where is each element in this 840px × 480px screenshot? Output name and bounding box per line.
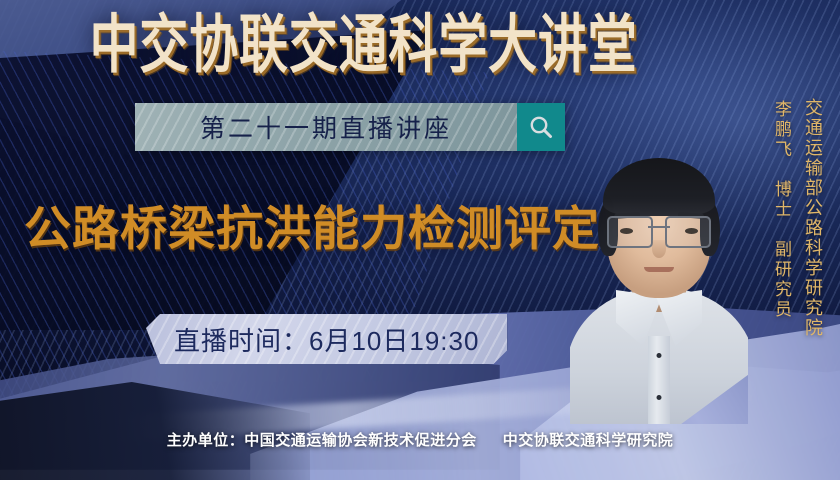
speaker-organization: 交通运输部公路科学研究院 xyxy=(800,98,826,338)
portrait-shirt-button xyxy=(657,395,662,400)
portrait-shirt-placket xyxy=(648,336,670,424)
glasses-lens-right xyxy=(665,216,711,248)
footer-prefix: 主办单位： xyxy=(167,432,245,449)
speaker-name-title: 李鹏飞 博士 副研究员 xyxy=(769,100,794,320)
broadcast-time-label: 直播时间：6月10日19:30 xyxy=(174,321,479,358)
glasses-bridge xyxy=(648,226,670,228)
footer-organizers: 主办单位：中国交通运输协会新技术促进分会中交协联交通科学研究院 xyxy=(0,429,840,450)
portrait-shirt-button xyxy=(657,353,662,358)
page-title: 中交协联交通科学大讲堂 xyxy=(25,14,815,77)
lecture-topic: 公路桥梁抗洪能力检测评定 xyxy=(24,203,600,257)
portrait-nose xyxy=(652,240,666,258)
footer-organizer-1: 中国交通运输协会新技术促进分会 xyxy=(244,432,477,449)
search-icon[interactable] xyxy=(517,103,565,151)
footer-organizer-2: 中交协联交通科学研究院 xyxy=(503,432,674,449)
portrait-illustration xyxy=(570,124,748,424)
speaker-portrait xyxy=(570,124,748,424)
series-banner: 第二十一期直播讲座 xyxy=(135,103,565,151)
webinar-poster: 中交协联交通科学大讲堂 第二十一期直播讲座 公路桥梁抗洪能力检测评定 直播时间：… xyxy=(0,0,840,480)
glasses-lens-left xyxy=(607,216,653,248)
portrait-mouth xyxy=(644,267,674,272)
series-label-box: 第二十一期直播讲座 xyxy=(135,103,517,151)
series-label: 第二十一期直播讲座 xyxy=(200,109,452,145)
portrait-hair xyxy=(603,158,715,216)
broadcast-time-badge: 直播时间：6月10日19:30 xyxy=(146,314,507,364)
